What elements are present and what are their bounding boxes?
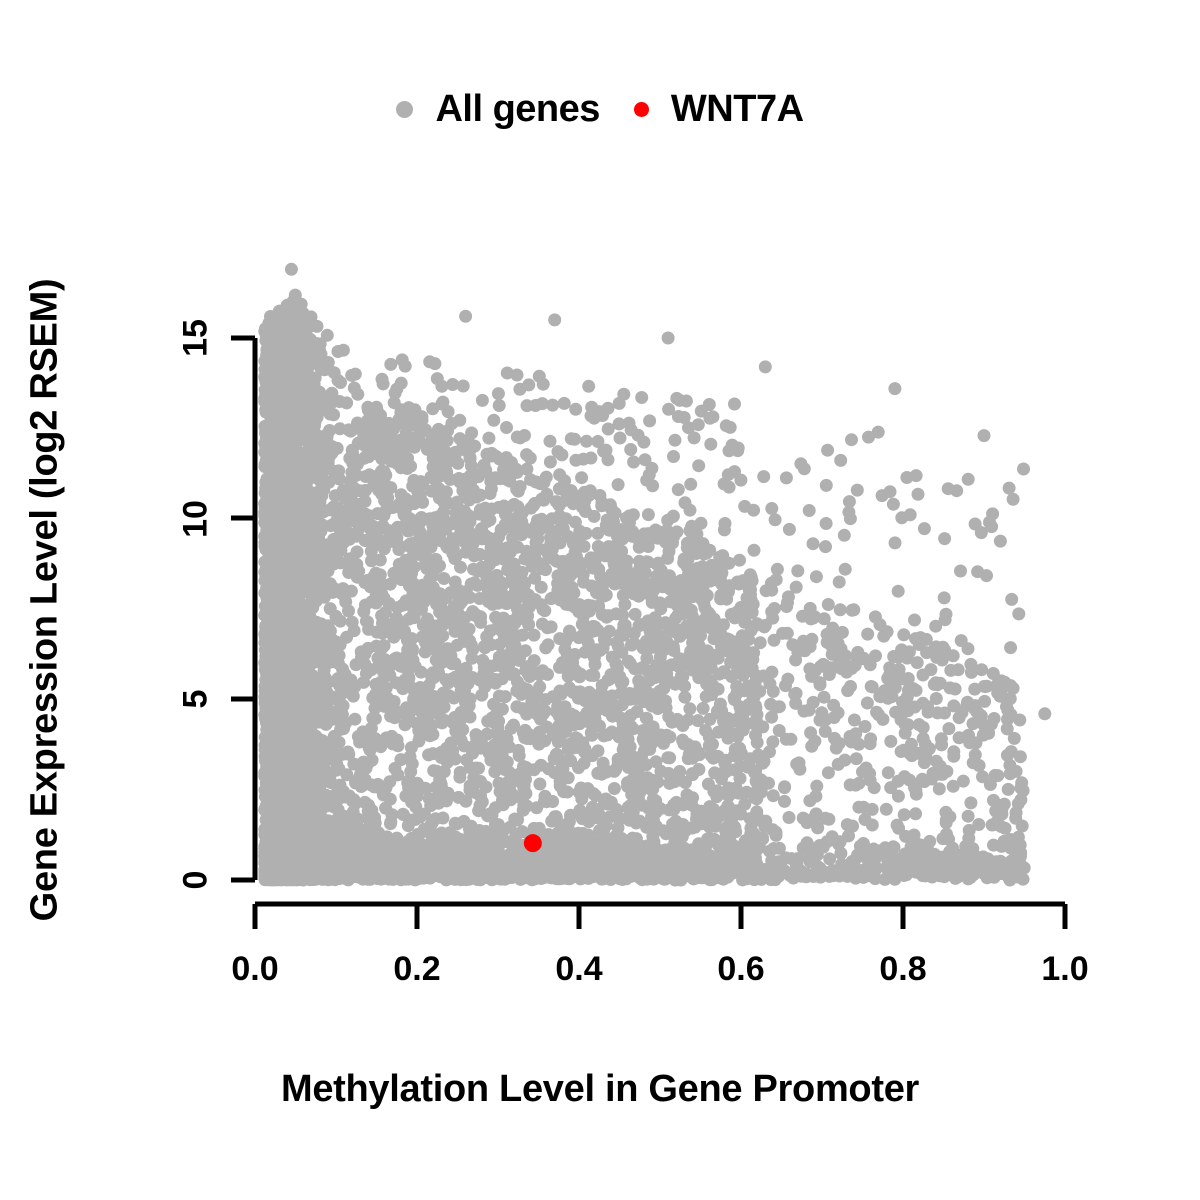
x-tick-label: 0.0	[231, 950, 278, 989]
wnt7a-data-point[interactable]	[524, 834, 542, 852]
x-axis-ticks	[255, 904, 1065, 929]
x-tick-label: 0.6	[717, 950, 764, 989]
x-tick-label: 1.0	[1041, 950, 1088, 989]
x-tick-label: 0.4	[555, 950, 602, 989]
highlight-point-layer	[524, 834, 542, 852]
data-points-layer	[258, 263, 1051, 887]
plot-canvas	[0, 0, 1200, 1200]
y-tick-label: 5	[177, 690, 216, 709]
x-axis-title: Methylation Level in Gene Promoter	[0, 1068, 1200, 1111]
y-tick-label: 15	[177, 319, 216, 357]
x-tick-label: 0.2	[393, 950, 440, 989]
y-tick-label: 0	[177, 871, 216, 890]
y-tick-label: 10	[177, 500, 216, 538]
x-tick-label: 0.8	[879, 950, 926, 989]
all-genes-points	[258, 263, 1051, 887]
y-axis-ticks	[231, 338, 255, 880]
scatter-plot-figure: All genes WNT7A Methylation Level in Gen…	[0, 0, 1200, 1200]
